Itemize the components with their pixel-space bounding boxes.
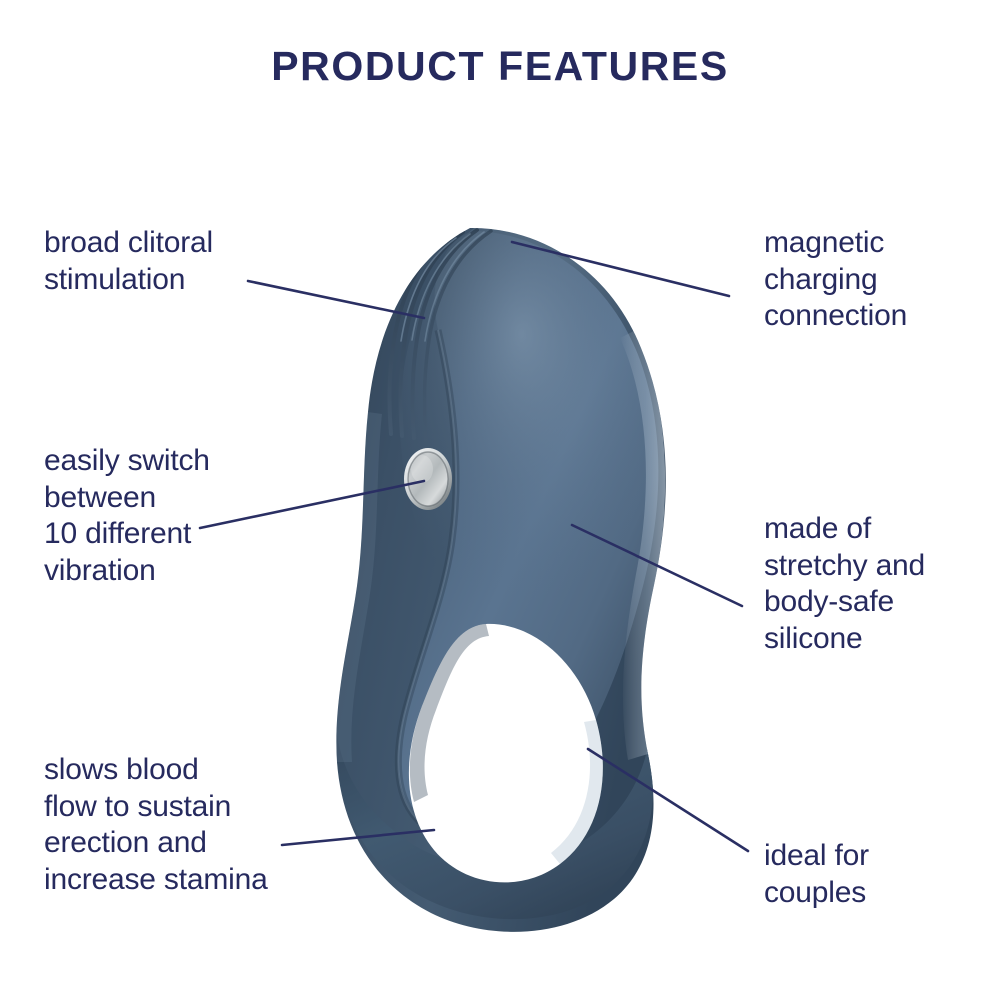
leader-line-ideal-couples xyxy=(588,749,748,851)
product-features-infographic: PRODUCT FEATURES xyxy=(0,0,1000,1000)
leader-line-magnetic-charging xyxy=(512,242,729,296)
leader-lines-group xyxy=(0,0,1000,1000)
leader-line-stretchy-silicone xyxy=(572,525,742,606)
leader-line-slows-blood xyxy=(282,830,434,845)
leader-line-broad-clitoral xyxy=(248,281,424,318)
leader-line-easily-switch xyxy=(200,481,424,528)
